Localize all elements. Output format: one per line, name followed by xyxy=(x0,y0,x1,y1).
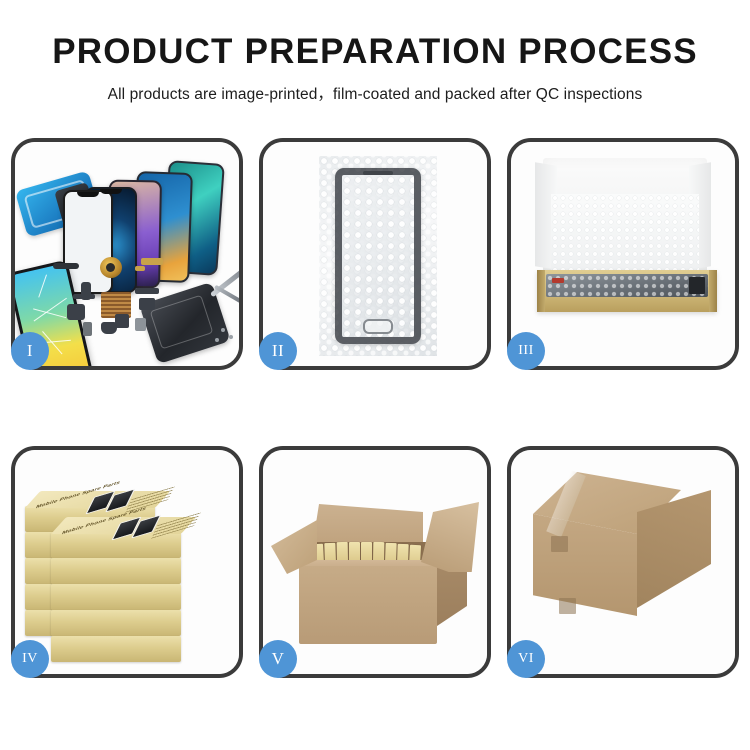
step-badge-4: IV xyxy=(11,640,49,678)
flex-cable-gold-2 xyxy=(135,266,145,271)
flex-strip-2 xyxy=(135,288,159,294)
screw-1 xyxy=(221,328,225,332)
step-badge-3: III xyxy=(507,332,545,370)
box-stack: Mobile Phone Spare Parts Mobile Phone Sp… xyxy=(21,468,233,658)
wrapped-product xyxy=(546,274,708,297)
vibrator-part xyxy=(139,298,155,310)
header: PRODUCT PREPARATION PROCESS All products… xyxy=(0,0,750,104)
phone-glass-panel xyxy=(335,168,421,344)
charging-port xyxy=(101,322,117,334)
step-badge-1: I xyxy=(11,332,49,370)
page-title: PRODUCT PREPARATION PROCESS xyxy=(0,34,750,69)
speaker-module xyxy=(100,257,122,278)
foam-padding xyxy=(551,194,699,276)
step-image-carton-filled xyxy=(263,450,487,674)
kraft-box-tray xyxy=(537,270,717,312)
button-part xyxy=(115,314,129,328)
step-badge-6: VI xyxy=(507,640,545,678)
flex-cable-gold-1 xyxy=(141,258,163,265)
box-top-face: Mobile Phone Spare Parts xyxy=(51,517,196,534)
step-panel-1[interactable]: I xyxy=(11,138,243,370)
stacked-box-item xyxy=(51,584,181,610)
box-top-face: Mobile Phone Spare Parts xyxy=(25,491,170,508)
flex-strip-1 xyxy=(73,294,95,299)
step-image-boxed-with-foam xyxy=(511,142,735,366)
step-image-phone-parts xyxy=(15,142,239,366)
step-image-stacked-boxes: Mobile Phone Spare Parts Mobile Phone Sp… xyxy=(15,450,239,674)
carton-tab-lower xyxy=(559,598,576,614)
carton-tab-upper xyxy=(551,536,568,552)
stacked-box-item xyxy=(51,558,181,584)
step-panel-2[interactable]: II xyxy=(259,138,491,370)
stacked-box-item xyxy=(51,636,181,662)
step-panel-3[interactable]: III xyxy=(507,138,739,370)
page-subtitle: All products are image-printed，film-coat… xyxy=(0,82,750,104)
step-image-carton-sealed xyxy=(511,450,735,674)
stacked-box-item xyxy=(51,610,181,636)
step-panel-4[interactable]: Mobile Phone Spare Parts Mobile Phone Sp… xyxy=(11,446,243,678)
step-image-bubble-wrapped xyxy=(263,142,487,366)
steps-grid: I II III xyxy=(11,138,739,742)
stacked-box-item: Mobile Phone Spare Parts xyxy=(51,532,181,558)
earpiece-part xyxy=(53,263,79,269)
step-badge-2: II xyxy=(259,332,297,370)
step-panel-6[interactable]: VI xyxy=(507,446,739,678)
home-button xyxy=(363,319,393,334)
carton-flap-right xyxy=(421,502,479,572)
product-preparation-infographic: PRODUCT PREPARATION PROCESS All products… xyxy=(0,0,750,750)
screw-3 xyxy=(215,338,219,342)
battery-connector xyxy=(135,318,146,331)
camera-module xyxy=(67,304,85,320)
step-badge-5: V xyxy=(259,640,297,678)
carton-front-face xyxy=(299,566,437,644)
screw-2 xyxy=(229,335,233,339)
sim-tray xyxy=(83,322,92,336)
step-panel-5[interactable]: V xyxy=(259,446,491,678)
bubble-wrap-sheet xyxy=(319,156,437,356)
